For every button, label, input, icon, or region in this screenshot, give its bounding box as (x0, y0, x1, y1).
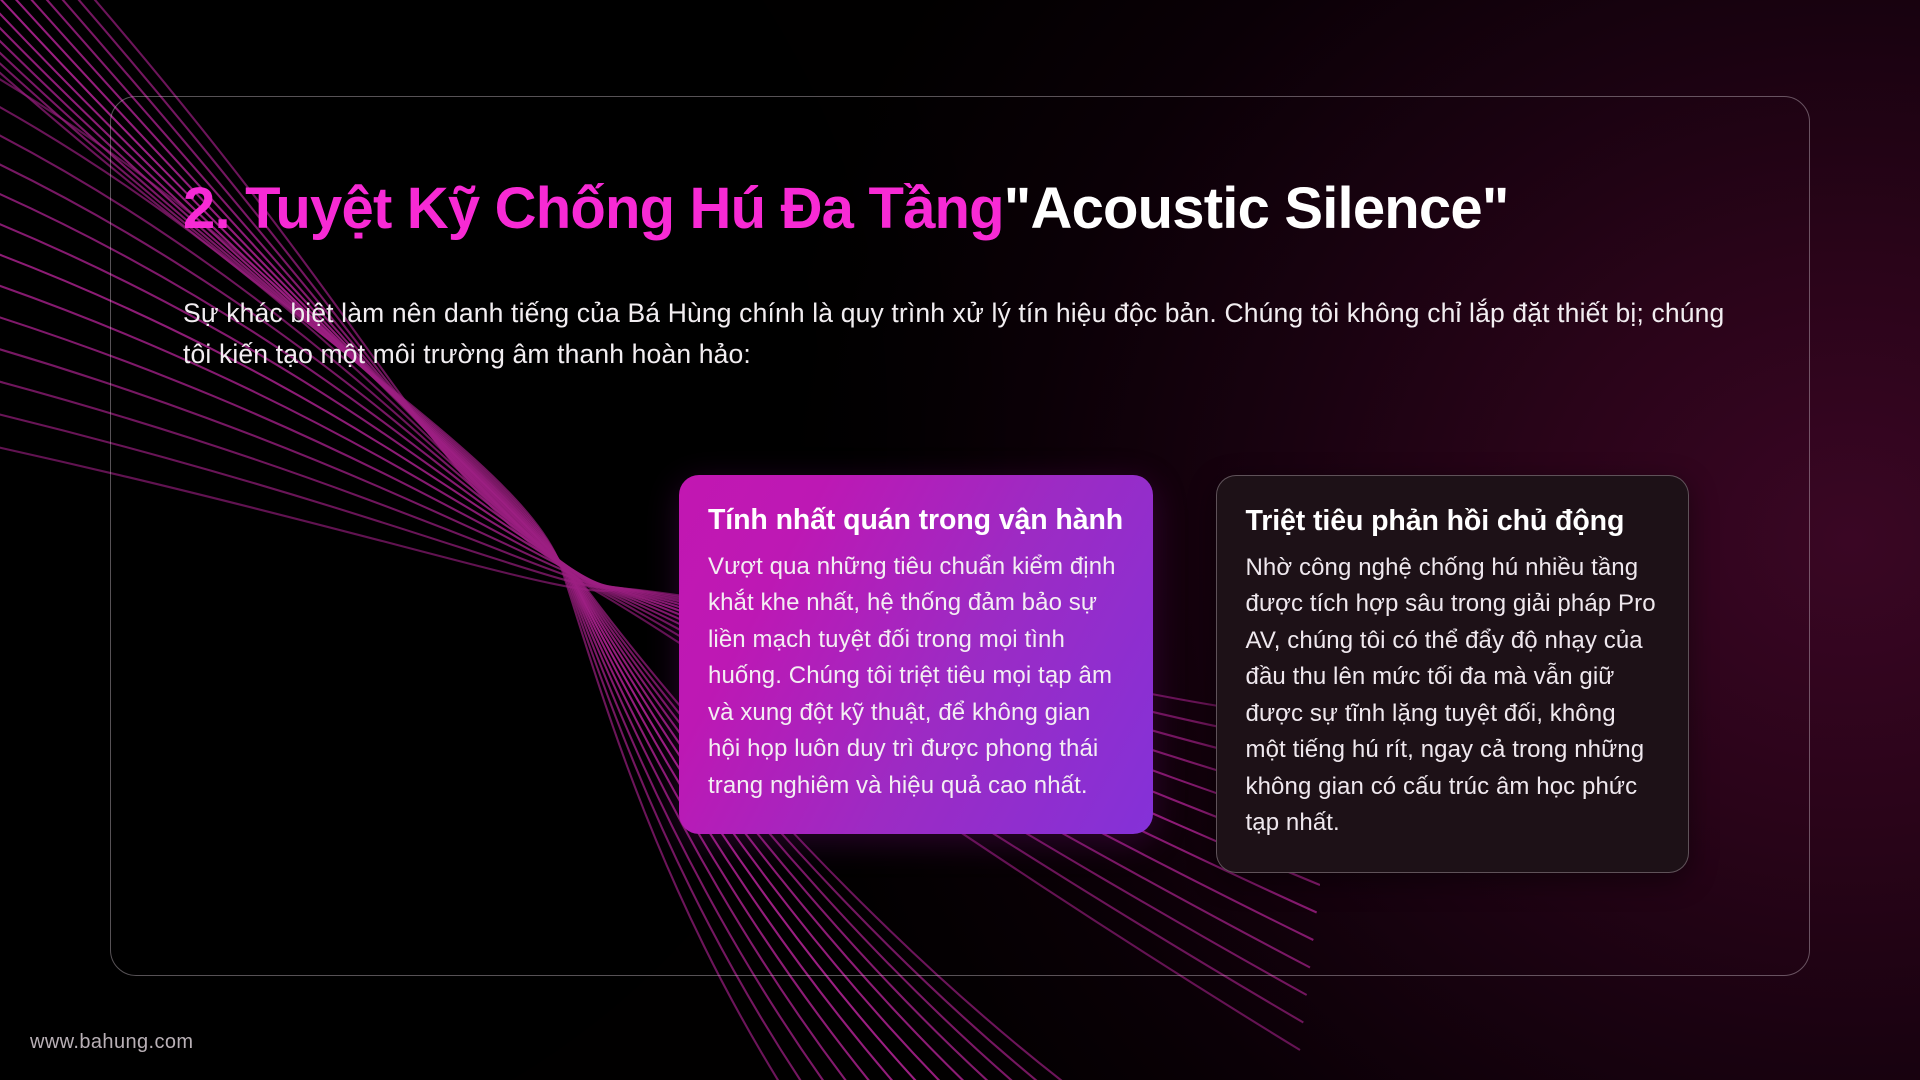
card-title: Triệt tiêu phản hồi chủ động (1246, 503, 1660, 541)
feature-card-feedback[interactable]: Triệt tiêu phản hồi chủ động Nhờ công ng… (1216, 475, 1690, 873)
feature-card-list: Tính nhất quán trong vận hành Vượt qua n… (679, 475, 1689, 873)
title-highlight: 2. Tuyệt Kỹ Chống Hú Đa Tầng (183, 176, 1004, 241)
lead-paragraph: Sự khác biệt làm nên danh tiếng của Bá H… (183, 293, 1743, 375)
page-title: 2. Tuyệt Kỹ Chống Hú Đa Tầng"Acoustic Si… (183, 178, 1509, 239)
slide-content: 2. Tuyệt Kỹ Chống Hú Đa Tầng"Acoustic Si… (0, 0, 1920, 1080)
title-quoted: "Acoustic Silence" (1004, 176, 1509, 241)
card-title: Tính nhất quán trong vận hành (708, 502, 1124, 540)
slide-canvas: 2. Tuyệt Kỹ Chống Hú Đa Tầng"Acoustic Si… (0, 0, 1920, 1080)
footer-website-url[interactable]: www.bahung.com (30, 1031, 193, 1054)
feature-card-consistency[interactable]: Tính nhất quán trong vận hành Vượt qua n… (679, 475, 1153, 834)
card-body: Nhờ công nghệ chống hú nhiều tầng được t… (1246, 550, 1660, 842)
card-body: Vượt qua những tiêu chuẩn kiểm định khắt… (708, 549, 1124, 804)
